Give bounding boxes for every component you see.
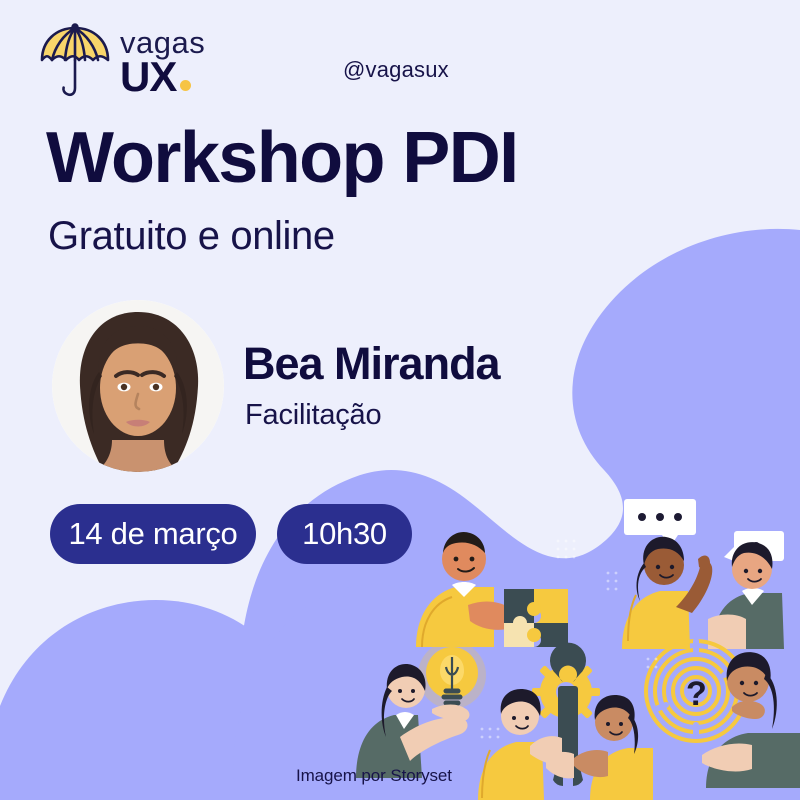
brand-logo[interactable]: vagas UX — [38, 22, 205, 100]
poster-canvas: vagas UX @vagasux Workshop PDI Gratuito … — [0, 0, 800, 800]
event-date-badge[interactable]: 14 de março — [50, 504, 256, 564]
speaker-avatar — [52, 300, 224, 472]
puzzle-collaboration-illustration — [408, 497, 598, 647]
brand-wordmark: vagas UX — [120, 27, 205, 95]
speaker-role: Facilitação — [245, 401, 381, 430]
social-handle[interactable]: @vagasux — [343, 57, 449, 83]
maze-question-illustration: ? — [640, 633, 800, 788]
page-title: Workshop PDI — [46, 122, 518, 194]
conversation-illustration — [600, 489, 800, 649]
speaker-name: Bea Miranda — [243, 341, 500, 386]
svg-text:?: ? — [686, 675, 707, 713]
brand-dot-icon — [180, 80, 191, 91]
event-time-badge[interactable]: 10h30 — [277, 504, 412, 564]
wrench-gear-illustration — [478, 640, 653, 800]
image-credit: Imagem por Storyset — [296, 766, 452, 786]
page-subtitle: Gratuito e online — [48, 216, 335, 256]
brand-word-ux: UX — [120, 59, 176, 95]
umbrella-icon — [38, 22, 112, 100]
